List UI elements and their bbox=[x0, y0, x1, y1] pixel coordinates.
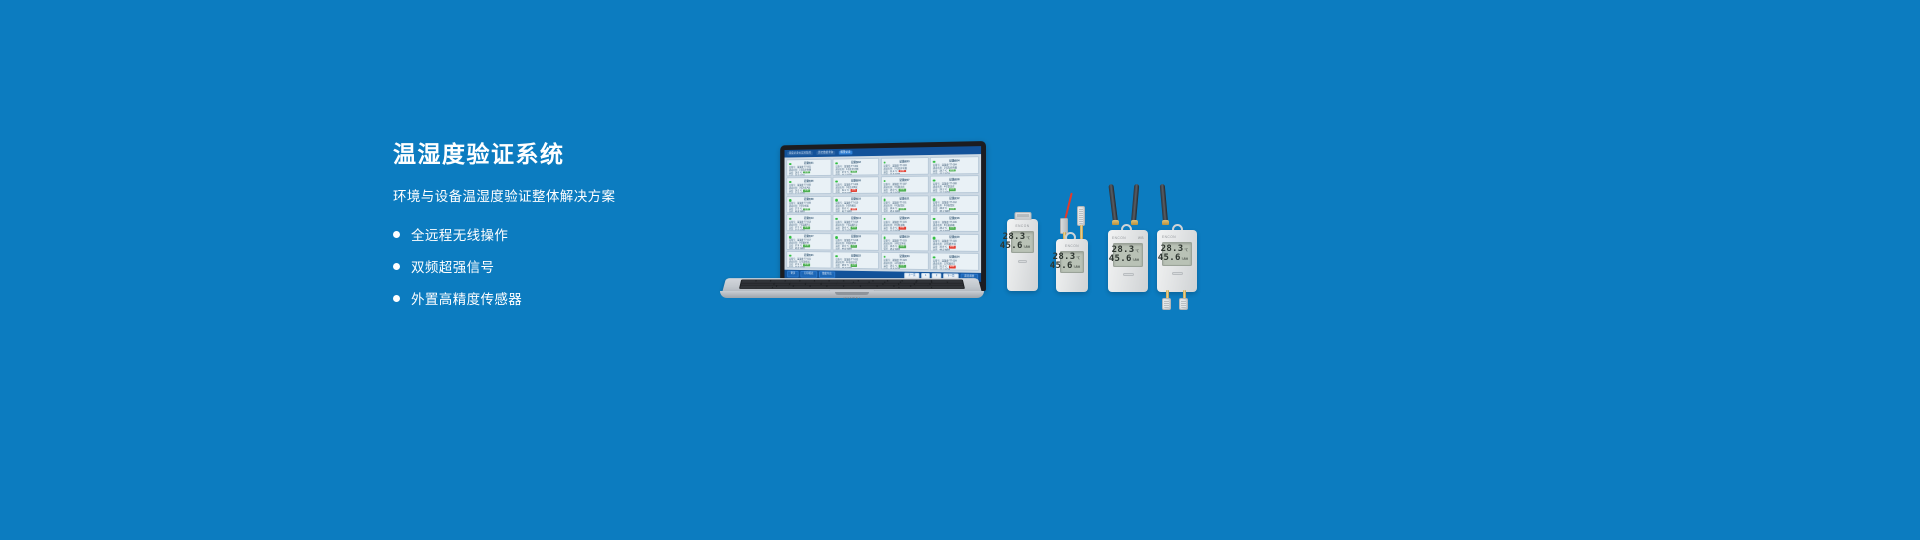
sensor-field-value: 45.3 %RH bbox=[842, 267, 852, 270]
key[interactable] bbox=[740, 287, 756, 288]
sensor-card-row: 湿度:47.3 %RH bbox=[789, 192, 829, 194]
sensor-card[interactable]: 记录仪18设备号:温湿度-T7-018通道名称:9号检验室温度:29.0 ℃正常… bbox=[833, 233, 879, 251]
laptop-keyboard[interactable] bbox=[739, 279, 965, 288]
feature-list: 全远程无线操作 双频超强信号 外置高精度传感器 bbox=[393, 224, 723, 308]
device-brand: ENCON bbox=[1112, 236, 1126, 240]
key[interactable] bbox=[948, 287, 964, 288]
sensor-field-value: 43.9 %RH bbox=[890, 229, 900, 231]
sensor-card-row: 湿度:46.8 %RH bbox=[789, 211, 829, 213]
feature-label: 全远程无线操作 bbox=[411, 224, 508, 244]
sensor-card[interactable]: 记录仪11设备号:温湿度-T7-011通道名称:6号发货区温度:28.4 ℃正常… bbox=[881, 195, 929, 213]
sensor-field-label: 湿度: bbox=[836, 266, 841, 269]
key[interactable] bbox=[756, 287, 772, 288]
device-lcd-display: 28.3 ℃ 45.6 %RH bbox=[1162, 242, 1192, 266]
list-item: 全远程无线操作 bbox=[393, 224, 723, 244]
sensor-card-row: 湿度:43.5 %RH bbox=[836, 192, 877, 195]
sensor-card[interactable]: 记录仪09设备号:温湿度-T7-009通道名称:5号中转区温度:27.5 ℃正常… bbox=[786, 196, 831, 213]
sensor-field-value: 45.1 %RH bbox=[939, 210, 949, 212]
sensor-field-label: 湿度: bbox=[883, 229, 888, 231]
sensor-card-title: 记录仪14 bbox=[836, 217, 877, 220]
humidity-unit: %RH bbox=[1074, 266, 1080, 270]
sensor-card[interactable]: 记录仪14设备号:温湿度-T7-014通道名称:7号运输车2温度:28.6 ℃正… bbox=[833, 214, 879, 231]
lcd-humidity-line: 45.6 %RH bbox=[1015, 242, 1030, 251]
device-logger-probe: ENCON 28.3 ℃ 45.6 %RH bbox=[1056, 239, 1088, 292]
sensor-card-row: 湿度:45.7 %RH bbox=[836, 229, 877, 231]
sensor-card[interactable]: 记录仪13设备号:温湿度-T7-013通道名称:7号运输车1温度:27.2 ℃正… bbox=[786, 214, 831, 231]
sensor-card-title: 记录仪05 bbox=[789, 180, 829, 183]
sensor-card[interactable]: 记录仪16设备号:温湿度-T7-016通道名称:8号培养箱温度:28.2 ℃正常… bbox=[930, 214, 979, 232]
status-led-icon bbox=[789, 236, 791, 238]
sensor-card-row: 湿度:47.0 %RH bbox=[789, 229, 829, 231]
sensor-card-title: 记录仪21 bbox=[789, 253, 829, 256]
sensor-card-row: 湿度:45.1 %RH bbox=[933, 210, 976, 212]
sensor-card[interactable]: 记录仪02设备号:温湿度-T7-002通道名称:1号库房北侧温度:27.9 ℃正… bbox=[833, 158, 879, 176]
sensor-card[interactable]: 记录仪19设备号:温湿度-T7-019通道名称:10号洁净区温度:28.5 ℃正… bbox=[881, 233, 929, 251]
device-brand: ENCON bbox=[1065, 244, 1079, 248]
device-wireless-dual: ENCON WB 28.3 ℃ 45.6 %RH bbox=[1108, 230, 1148, 292]
sensor-card[interactable]: 记录仪15设备号:温湿度-T7-015通道名称:8号恒温箱温度:31.9 ℃超限… bbox=[881, 214, 929, 232]
laptop-product-image: 温度记录仪实时监控 历史数据查询 报警记录 记录仪01设备号:温湿度-T7-00… bbox=[718, 141, 986, 301]
key[interactable] bbox=[932, 287, 948, 288]
status-led-icon bbox=[933, 218, 935, 220]
probe-stem bbox=[1080, 225, 1083, 240]
sensor-field-label: 湿度: bbox=[789, 211, 794, 213]
status-led-icon bbox=[933, 199, 935, 201]
device-button[interactable] bbox=[1172, 272, 1183, 275]
key[interactable] bbox=[899, 287, 915, 288]
probe-mesh bbox=[1164, 300, 1169, 308]
status-led-icon bbox=[933, 160, 935, 163]
sensor-card-title: 记录仪16 bbox=[933, 217, 976, 220]
sensor-field-value: 47.3 %RH bbox=[795, 192, 805, 194]
banner-copy: 温湿度验证系统 环境与设备温湿度验证整体解决方案 全远程无线操作 双频超强信号 … bbox=[393, 142, 723, 308]
sensor-card[interactable]: 记录仪24设备号:温湿度-T7-024通道名称:12号备用2温度:31.2 ℃超… bbox=[930, 252, 979, 270]
list-item: 双频超强信号 bbox=[393, 256, 723, 276]
tab-alarms[interactable]: 报警记录 bbox=[839, 150, 853, 155]
sensor-field-label: 湿度: bbox=[789, 229, 794, 231]
lcd-humidity-line: 45.6 %RH bbox=[1117, 255, 1139, 264]
sensor-card[interactable]: 记录仪23设备号:温湿度-T7-023通道名称:12号备用1温度:28.1 ℃正… bbox=[881, 252, 929, 270]
sensor-field-label: 湿度: bbox=[789, 174, 794, 176]
sensor-field-value: 45.0 %RH bbox=[939, 172, 949, 175]
device-brand: ENCON bbox=[1162, 235, 1176, 239]
sensor-card[interactable]: 记录仪06设备号:温湿度-T7-006通道名称:3号冷库B区温度:32.1 ℃超… bbox=[833, 177, 879, 195]
humidity-unit: %RH bbox=[1182, 258, 1188, 262]
antenna-base bbox=[1162, 220, 1169, 225]
sensor-card[interactable]: 记录仪22设备号:温湿度-T7-022通道名称:11号成品库温度:28.9 ℃正… bbox=[833, 251, 879, 269]
sensor-card-row: 湿度:46.3 %RH bbox=[933, 230, 976, 232]
sensor-card[interactable]: 记录仪05设备号:温湿度-T7-005通道名称:3号冷库A区温度:26.2 ℃正… bbox=[786, 177, 831, 194]
sensor-card-row: 湿度:42.7 %RH bbox=[836, 211, 877, 213]
sensor-card-title: 记录仪23 bbox=[883, 254, 925, 258]
key[interactable] bbox=[916, 287, 932, 288]
feature-label: 双频超强信号 bbox=[411, 256, 494, 276]
sensor-field-value: 45.6 %RH bbox=[795, 174, 805, 176]
sensor-field-value: 45.4 %RH bbox=[890, 211, 900, 213]
sensor-field-value: 46.5 %RH bbox=[795, 266, 805, 269]
sensor-field-label: 湿度: bbox=[883, 192, 888, 194]
sensor-card[interactable]: 记录仪21设备号:温湿度-T7-021通道名称:11号原料库温度:27.6 ℃正… bbox=[786, 251, 831, 269]
sensor-card[interactable]: 记录仪12设备号:温湿度-T7-012通道名称:6号收货区温度:28.8 ℃正常… bbox=[930, 195, 979, 213]
humidity-probe bbox=[1077, 206, 1085, 226]
sensor-field-label: 湿度: bbox=[836, 173, 841, 175]
status-led-icon bbox=[933, 256, 935, 258]
sensor-card-row: 湿度:46.5 %RH bbox=[789, 266, 829, 269]
sensor-field-label: 湿度: bbox=[789, 192, 794, 194]
laptop-base-notch bbox=[835, 292, 869, 295]
laptop-base: HUAWEI bbox=[718, 270, 986, 301]
sensor-field-value: 45.9 %RH bbox=[890, 192, 900, 194]
sensor-card-title: 记录仪08 bbox=[933, 178, 976, 182]
device-logger-probe-group: ENCON 28.3 ℃ 45.6 %RH bbox=[1052, 192, 1100, 292]
bullet-dot-icon bbox=[393, 263, 400, 270]
sensor-field-label: 湿度: bbox=[883, 248, 888, 251]
humidity-unit: %RH bbox=[1024, 246, 1030, 250]
sensor-field-label: 湿度: bbox=[933, 191, 938, 193]
sensor-field-label: 湿度: bbox=[836, 229, 841, 231]
sensor-card[interactable]: 记录仪08设备号:温湿度-T7-008通道名称:4号常温库温度:29.1 ℃正常… bbox=[930, 175, 979, 193]
sensor-field-value: 44.0 %RH bbox=[939, 249, 949, 252]
promo-banner: 温湿度验证系统 环境与设备温湿度验证整体解决方案 全远程无线操作 双频超强信号 … bbox=[0, 0, 1920, 540]
sensor-card-title: 记录仪07 bbox=[883, 179, 925, 182]
antenna-icon bbox=[1131, 184, 1139, 222]
tab-realtime[interactable]: 温度记录仪实时监控 bbox=[787, 151, 813, 156]
device-lcd-display: 28.3 ℃ 45.6 %RH bbox=[1011, 231, 1034, 253]
sensor-field-value: 43.5 %RH bbox=[842, 192, 852, 194]
sensor-field-value: 45.5 %RH bbox=[795, 247, 805, 250]
status-led-icon bbox=[933, 237, 935, 239]
sensor-card-row: 湿度:46.1 %RH bbox=[836, 173, 877, 176]
lcd-humidity-line: 45.6 %RH bbox=[1064, 262, 1080, 271]
sensor-card-title: 记录仪22 bbox=[836, 254, 877, 257]
probe-mesh bbox=[1079, 208, 1083, 224]
sensor-card-row: 湿度:45.2 %RH bbox=[883, 248, 925, 251]
humidity-probe bbox=[1162, 298, 1171, 310]
sensor-field-value: 45.2 %RH bbox=[890, 248, 900, 251]
laptop-screen: 温度记录仪实时监控 历史数据查询 报警记录 记录仪01设备号:温湿度-T7-00… bbox=[785, 146, 982, 282]
sensor-field-value: 44.6 %RH bbox=[842, 248, 852, 251]
sensor-field-value: 45.7 %RH bbox=[842, 229, 852, 231]
sensor-field-label: 湿度: bbox=[883, 211, 888, 213]
sensor-field-label: 湿度: bbox=[883, 173, 888, 175]
sensor-card-row: 湿度:45.9 %RH bbox=[883, 191, 925, 194]
sensor-card[interactable]: 记录仪04设备号:温湿度-T7-004通道名称:2号库房西侧温度:28.7 ℃正… bbox=[930, 156, 979, 174]
antenna-icon bbox=[1108, 184, 1118, 222]
key[interactable] bbox=[773, 287, 789, 288]
device-brand: ENCON bbox=[1015, 224, 1029, 228]
list-item: 外置高精度传感器 bbox=[393, 288, 723, 308]
sensor-field-value: 44.8 %RH bbox=[890, 173, 900, 175]
space-key[interactable] bbox=[789, 287, 899, 288]
sensor-field-value: 46.8 %RH bbox=[795, 211, 805, 213]
sensor-card[interactable]: 记录仪10设备号:温湿度-T7-010通道名称:5号待检区温度:33.0 ℃超限… bbox=[833, 195, 879, 212]
tab-history[interactable]: 历史数据查询 bbox=[816, 151, 835, 156]
temperature-unit: ℃ bbox=[1027, 237, 1031, 241]
sensor-card-title: 记录仪24 bbox=[933, 255, 976, 259]
humidity-value: 45.6 bbox=[1050, 262, 1073, 271]
status-led-icon bbox=[836, 255, 838, 257]
humidity-value: 45.6 bbox=[1109, 255, 1132, 264]
device-model-label: WB bbox=[1138, 236, 1144, 240]
probe-cable bbox=[1064, 193, 1073, 221]
sensor-card-title: 记录仪15 bbox=[883, 217, 925, 220]
sensor-card-row: 湿度:43.9 %RH bbox=[883, 229, 925, 231]
sensor-card[interactable]: 记录仪17设备号:温湿度-T7-017通道名称:9号留样室温度:27.8 ℃正常… bbox=[786, 233, 831, 250]
sensor-card[interactable]: 记录仪01设备号:温湿度-T7-001通道名称:1号库房南侧温度:28.3 ℃正… bbox=[786, 159, 831, 177]
humidity-unit: %RH bbox=[1133, 259, 1139, 263]
sensor-card[interactable]: 记录仪07设备号:温湿度-T7-007通道名称:4号阴凉库温度:28.0 ℃正常… bbox=[881, 176, 929, 194]
sensor-field-label: 湿度: bbox=[836, 211, 841, 213]
sensor-field-label: 湿度: bbox=[933, 172, 938, 174]
bullet-dot-icon bbox=[393, 295, 400, 302]
sensor-field-value: 42.7 %RH bbox=[842, 211, 852, 213]
device-wireless-probe: ENCON 28.3 ℃ 45.6 %RH bbox=[1157, 230, 1197, 292]
sensor-card-title: 记录仪13 bbox=[789, 217, 829, 220]
antenna-icon bbox=[1160, 184, 1168, 222]
sensor-card-row: 湿度:44.0 %RH bbox=[933, 249, 976, 252]
sensor-card-row: 湿度:45.6 %RH bbox=[789, 174, 829, 177]
sensor-field-value: 46.3 %RH bbox=[939, 230, 949, 232]
temperature-unit: ℃ bbox=[1077, 257, 1081, 261]
status-led-icon bbox=[789, 254, 791, 256]
keyboard-row bbox=[740, 287, 964, 288]
lcd-humidity-line: 45.6 %RH bbox=[1166, 254, 1188, 263]
hanger-slots-icon bbox=[1017, 214, 1028, 217]
sensor-card-row: 湿度:45.3 %RH bbox=[836, 266, 877, 269]
device-button[interactable] bbox=[1123, 273, 1134, 276]
humidity-value: 45.6 bbox=[1000, 242, 1023, 251]
sensor-card-grid: 记录仪01设备号:温湿度-T7-001通道名称:1号库房南侧温度:28.3 ℃正… bbox=[785, 154, 982, 273]
humidity-value: 45.6 bbox=[1158, 254, 1181, 263]
sensor-field-label: 湿度: bbox=[933, 249, 938, 252]
antenna-base bbox=[1131, 220, 1138, 225]
device-label-row: ENCON WB bbox=[1108, 236, 1148, 240]
status-led-icon bbox=[836, 218, 838, 220]
device-button[interactable] bbox=[1018, 260, 1027, 263]
humidity-probe bbox=[1179, 298, 1188, 310]
sensor-card[interactable]: 记录仪03设备号:温湿度-T7-003通道名称:2号库房东侧温度:31.4 ℃超… bbox=[881, 157, 929, 175]
status-led-icon bbox=[883, 199, 885, 201]
laptop-lid: 温度记录仪实时监控 历史数据查询 报警记录 记录仪01设备号:温湿度-T7-00… bbox=[780, 141, 986, 291]
sensor-field-value: 47.0 %RH bbox=[795, 229, 805, 231]
sensor-card[interactable]: 记录仪20设备号:温湿度-T7-020通道名称:10号缓冲间温度:30.8 ℃超… bbox=[930, 233, 979, 251]
sensor-card-row: 湿度:45.0 %RH bbox=[933, 172, 976, 175]
sensor-card-row: 湿度:44.2 %RH bbox=[933, 191, 976, 194]
sensor-card-row: 湿度:44.8 %RH bbox=[883, 172, 925, 175]
device-lcd-display: 28.3 ℃ 45.6 %RH bbox=[1113, 243, 1143, 267]
device-lcd-display: 28.3 ℃ 45.6 %RH bbox=[1060, 251, 1084, 273]
sensor-card-row: 湿度:45.5 %RH bbox=[789, 247, 829, 250]
banner-subtitle: 环境与设备温湿度验证整体解决方案 bbox=[393, 185, 723, 205]
sensor-field-label: 湿度: bbox=[836, 248, 841, 251]
status-led-icon bbox=[789, 218, 791, 220]
status-led-icon bbox=[836, 199, 838, 201]
sensor-card-row: 湿度:45.4 %RH bbox=[883, 211, 925, 213]
status-led-icon bbox=[836, 162, 838, 164]
sensor-field-value: 46.1 %RH bbox=[842, 173, 852, 175]
probe-mesh bbox=[1181, 300, 1186, 308]
device-wireless-dual-group: ENCON WB 28.3 ℃ 45.6 %RH bbox=[1106, 184, 1160, 292]
bullet-dot-icon bbox=[393, 231, 400, 238]
temperature-unit: ℃ bbox=[1185, 249, 1189, 253]
feature-label: 外置高精度传感器 bbox=[411, 288, 522, 308]
sensor-card-title: 记录仪06 bbox=[836, 179, 877, 182]
page-title: 温湿度验证系统 bbox=[393, 142, 723, 167]
antenna-base bbox=[1112, 220, 1119, 225]
sensor-field-label: 湿度: bbox=[789, 247, 794, 250]
device-wireless-probe-group: ENCON 28.3 ℃ 45.6 %RH bbox=[1155, 184, 1209, 310]
laptop-brand: HUAWEI bbox=[844, 296, 861, 300]
status-led-icon bbox=[836, 236, 838, 238]
sensor-field-label: 湿度: bbox=[836, 192, 841, 194]
status-led-icon bbox=[789, 163, 791, 165]
device-logger-basic: ENCON 28.3 ℃ 45.6 %RH bbox=[1007, 219, 1038, 291]
temperature-unit: ℃ bbox=[1136, 250, 1140, 254]
sensor-field-label: 湿度: bbox=[933, 210, 938, 212]
status-led-icon bbox=[789, 199, 791, 201]
sensor-field-label: 湿度: bbox=[933, 230, 938, 232]
status-led-icon bbox=[883, 237, 885, 239]
sensor-field-value: 44.2 %RH bbox=[939, 191, 949, 193]
sensor-field-label: 湿度: bbox=[789, 266, 794, 269]
sensor-card-row: 湿度:44.6 %RH bbox=[836, 248, 877, 251]
